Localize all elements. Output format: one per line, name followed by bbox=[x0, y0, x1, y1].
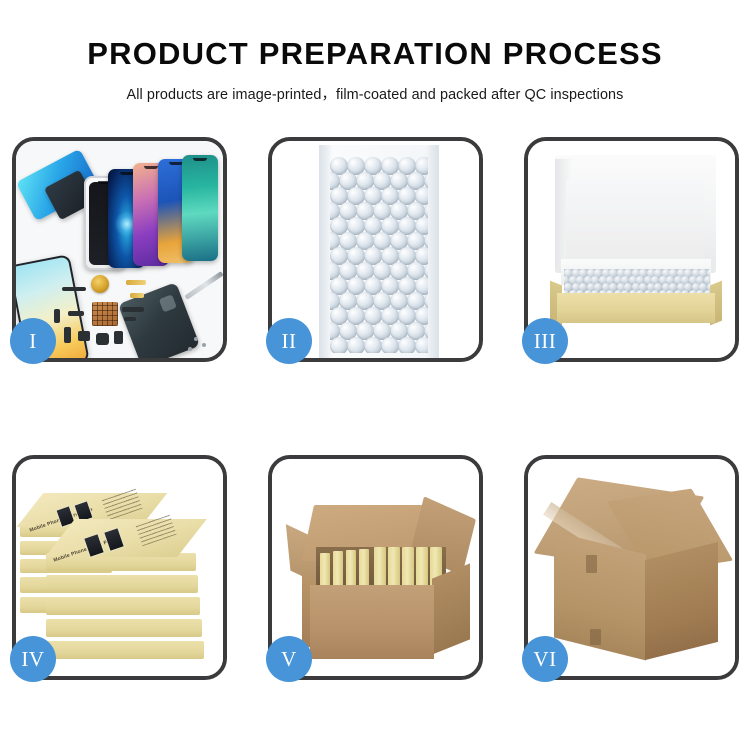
infographic-page: PRODUCT PREPARATION PROCESS All products… bbox=[0, 0, 750, 750]
screw-3 bbox=[188, 347, 192, 351]
retail-box-front-2 bbox=[46, 575, 198, 593]
screwdriver-tool bbox=[184, 271, 223, 300]
spare-part-strip-1 bbox=[62, 287, 86, 291]
retail-box-front-4 bbox=[46, 619, 202, 637]
bubble-wrap-bubbles bbox=[330, 157, 428, 353]
spare-part-button bbox=[78, 331, 90, 341]
spare-part-strip-2 bbox=[54, 309, 60, 323]
spare-part-chip-grid bbox=[92, 302, 118, 326]
step-badge-2: II bbox=[266, 318, 312, 364]
step-badge-1: I bbox=[10, 318, 56, 364]
step-badge-3: III bbox=[522, 318, 568, 364]
step-badge-6: VI bbox=[522, 636, 568, 682]
page-title: PRODUCT PREPARATION PROCESS bbox=[0, 0, 750, 72]
spare-part-coil bbox=[91, 275, 109, 293]
page-subtitle: All products are image-printed，film-coat… bbox=[0, 72, 750, 104]
bubble bbox=[398, 337, 416, 353]
spare-part-strip-3 bbox=[68, 311, 84, 316]
bubble bbox=[347, 337, 365, 353]
spare-part-strip-5 bbox=[124, 317, 136, 321]
bubble bbox=[364, 337, 382, 353]
bubble bbox=[415, 337, 428, 353]
sealed-carton-side-face bbox=[645, 542, 718, 660]
sealed-carton-tab-upper bbox=[586, 555, 597, 573]
inner-box-front bbox=[557, 293, 715, 323]
spare-part-flex-1 bbox=[126, 280, 146, 285]
sealed-carton-tab-lower bbox=[590, 629, 601, 645]
spare-part-strip-6 bbox=[64, 327, 71, 343]
step-panel-5: V bbox=[268, 455, 483, 680]
step-panel-3: III bbox=[524, 137, 739, 362]
retail-box-front-5 bbox=[46, 641, 204, 659]
spare-part-camera bbox=[114, 331, 123, 344]
spare-part-flex-2 bbox=[130, 293, 144, 298]
step-panel-1: I bbox=[12, 137, 227, 362]
step-panel-4: Mobile Phone Spare Parts Mobile Phone Sp… bbox=[12, 455, 227, 680]
step-panel-2: II bbox=[268, 137, 483, 362]
retail-box-front-3 bbox=[46, 597, 200, 615]
header: PRODUCT PREPARATION PROCESS All products… bbox=[0, 0, 750, 104]
spare-part-speaker bbox=[96, 333, 109, 345]
carton-side-face bbox=[432, 563, 470, 654]
spare-part-strip-4 bbox=[122, 307, 144, 312]
step-badge-4: IV bbox=[10, 636, 56, 682]
carton-front-face bbox=[310, 585, 434, 659]
step-panel-6: VI bbox=[524, 455, 739, 680]
process-step-grid: I II III bbox=[12, 137, 738, 680]
phone-screen-teal bbox=[182, 155, 218, 261]
step-badge-5: V bbox=[266, 636, 312, 682]
screw-1 bbox=[194, 337, 198, 341]
bubble bbox=[330, 337, 348, 353]
bubble bbox=[381, 337, 399, 353]
inner-box-lid-panel bbox=[566, 181, 705, 259]
screw-2 bbox=[202, 343, 206, 347]
inner-box-wrapped-contents bbox=[564, 269, 710, 295]
